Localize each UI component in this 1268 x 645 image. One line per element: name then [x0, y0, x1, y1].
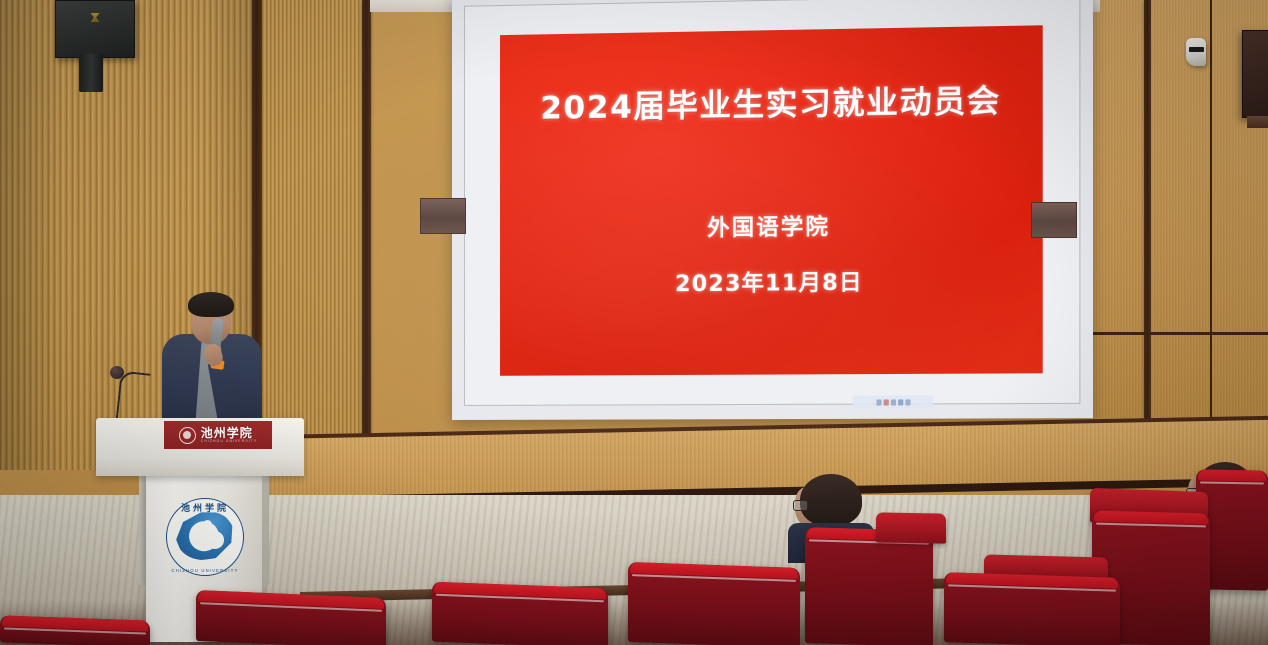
- emblem-figure-head: [203, 520, 212, 529]
- screen-bracket-left: [420, 198, 466, 234]
- wall-seam-3: [1144, 0, 1151, 455]
- nameplate-chinese: 池州学院: [201, 427, 258, 439]
- wall-seam-2: [362, 0, 371, 458]
- seat-back[interactable]: [196, 590, 386, 645]
- security-camera-icon: [1186, 38, 1206, 66]
- seat-armrest[interactable]: [876, 512, 946, 543]
- screen-control-sticker: [853, 395, 934, 409]
- loudspeaker-icon: [55, 0, 135, 58]
- wall-slat-panel-mid: [262, 0, 362, 455]
- auditorium-photo: 2024届毕业生实习就业动员会 外国语学院 2023年11月8日 池州学院: [0, 0, 1268, 645]
- speaker-brand-badge: [91, 13, 100, 22]
- loudspeaker-mount: [79, 54, 103, 92]
- gooseneck-microphone-head: [110, 366, 124, 379]
- presenter-hair: [188, 292, 234, 317]
- seat-back[interactable]: [805, 527, 933, 645]
- podium-foot-right: [262, 470, 269, 585]
- slide-organization: 外国语学院: [500, 206, 1043, 244]
- audience-glasses-icon: [793, 500, 808, 511]
- wall-panel-seam-h: [1078, 332, 1268, 335]
- loudspeaker-right-icon: [1242, 30, 1268, 118]
- presentation-slide: 2024届毕业生实习就业动员会 外国语学院 2023年11月8日: [500, 25, 1043, 376]
- nameplate-english: CHIZHOU UNIVERSITY: [201, 440, 258, 443]
- seat-back[interactable]: [0, 615, 150, 645]
- seat-back[interactable]: [944, 572, 1120, 645]
- wall-panel-seam-right: [1210, 0, 1212, 455]
- nameplate-logo-icon: [179, 427, 196, 444]
- slide-date: 2023年11月8日: [500, 263, 1043, 300]
- projection-screen: 2024届毕业生实习就业动员会 外国语学院 2023年11月8日: [452, 0, 1093, 420]
- podium-nameplate: 池州学院 CHIZHOU UNIVERSITY: [164, 421, 272, 449]
- screen-bracket-right: [1031, 202, 1077, 238]
- presenter: [158, 292, 266, 428]
- chizhou-university-emblem-icon: 池州学院 CHIZHOU UNIVERSITY: [166, 498, 244, 576]
- emblem-chinese-name: 池州学院: [167, 501, 243, 514]
- podium-foot-left: [139, 470, 146, 585]
- emblem-english-name: CHIZHOU UNIVERSITY: [167, 568, 243, 573]
- seat-back[interactable]: [628, 562, 800, 645]
- seat-back[interactable]: [432, 582, 608, 645]
- audience-hair: [800, 474, 862, 526]
- slide-title: 2024届毕业生实习就业动员会: [500, 74, 1043, 128]
- podium-lectern: 池州学院 CHIZHOU UNIVERSITY: [96, 418, 304, 476]
- loudspeaker-right-bracket: [1247, 116, 1268, 128]
- emblem-swoosh: [172, 506, 239, 565]
